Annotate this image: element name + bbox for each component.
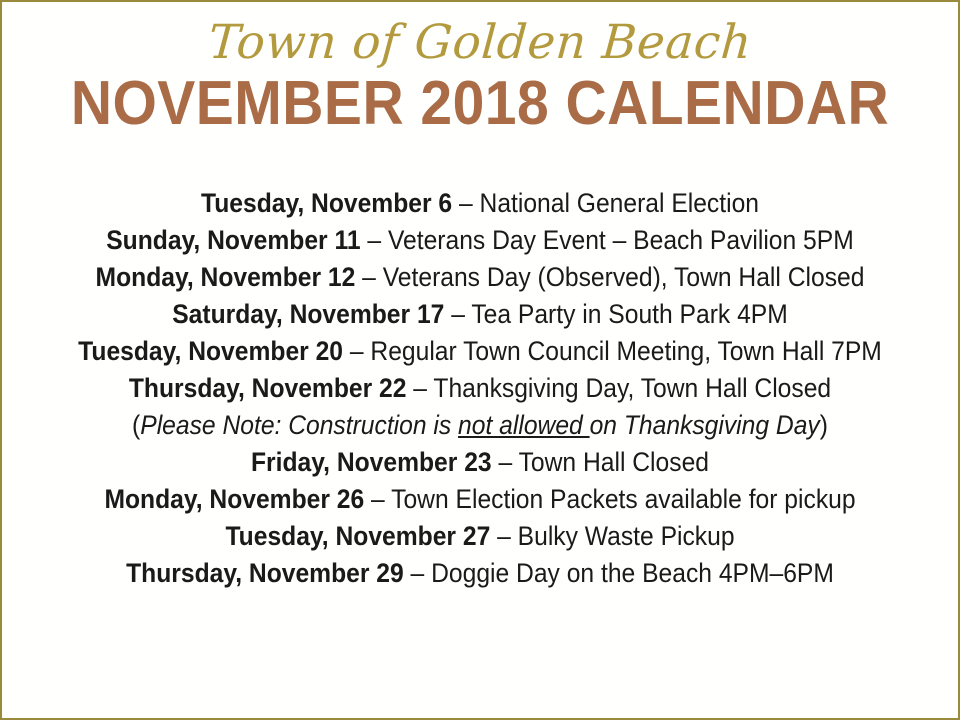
event-line: Saturday, November 17 – Tea Party in Sou…	[35, 296, 924, 333]
note-trail-text: on Thanksgiving Day	[590, 410, 820, 440]
event-separator: –	[490, 521, 517, 551]
event-date: Thursday, November 29	[126, 558, 404, 588]
event-date: Saturday, November 17	[172, 299, 444, 329]
event-date: Tuesday, November 20	[78, 336, 343, 366]
event-separator: –	[452, 188, 479, 218]
event-date: Monday, November 26	[104, 484, 364, 514]
event-line: Tuesday, November 6 – National General E…	[35, 185, 924, 222]
event-line: Sunday, November 11 – Veterans Day Event…	[35, 222, 924, 259]
event-date: Sunday, November 11	[106, 225, 360, 255]
event-description: Regular Town Council Meeting, Town Hall …	[370, 336, 881, 366]
event-description: Thanksgiving Day, Town Hall Closed	[433, 373, 831, 403]
event-description: Veterans Day (Observed), Town Hall Close…	[383, 262, 865, 292]
event-description: Town Hall Closed	[519, 447, 709, 477]
note-emphasis: not allowed	[458, 410, 590, 440]
note-open-paren: (	[132, 410, 140, 440]
event-description: Doggie Day on the Beach 4PM–6PM	[431, 558, 834, 588]
calendar-flyer: Town of Golden Beach NOVEMBER 2018 CALEN…	[0, 0, 960, 720]
event-line: Monday, November 12 – Veterans Day (Obse…	[35, 259, 924, 296]
event-description: Bulky Waste Pickup	[518, 521, 735, 551]
event-description: Town Election Packets available for pick…	[391, 484, 855, 514]
event-separator: –	[492, 447, 519, 477]
event-separator: –	[364, 484, 391, 514]
event-description: Tea Party in South Park 4PM	[471, 299, 787, 329]
event-separator: –	[361, 225, 388, 255]
construction-note: (Please Note: Construction is not allowe…	[35, 407, 924, 444]
event-line: Monday, November 26 – Town Election Pack…	[35, 481, 924, 518]
page-title: NOVEMBER 2018 CALENDAR	[40, 73, 920, 135]
event-date: Tuesday, November 6	[201, 188, 452, 218]
event-date: Thursday, November 22	[129, 373, 407, 403]
event-line: Thursday, November 22 – Thanksgiving Day…	[35, 370, 924, 407]
town-name-title: Town of Golden Beach	[0, 18, 960, 69]
event-separator: –	[343, 336, 370, 366]
event-description: Veterans Day Event – Beach Pavilion 5PM	[388, 225, 854, 255]
note-close-paren: )	[820, 410, 828, 440]
event-description: National General Election	[480, 188, 759, 218]
event-date: Monday, November 12	[96, 262, 356, 292]
event-list: Tuesday, November 6 – National General E…	[2, 185, 958, 592]
event-line: Tuesday, November 20 – Regular Town Coun…	[35, 333, 924, 370]
event-separator: –	[406, 373, 433, 403]
event-date: Tuesday, November 27	[225, 521, 490, 551]
event-date: Friday, November 23	[251, 447, 492, 477]
event-separator: –	[444, 299, 471, 329]
event-line: Tuesday, November 27 – Bulky Waste Picku…	[35, 518, 924, 555]
event-line: Friday, November 23 – Town Hall Closed	[35, 444, 924, 481]
event-separator: –	[355, 262, 382, 292]
note-lead-text: Please Note: Construction is	[140, 410, 458, 440]
flyer-header: Town of Golden Beach NOVEMBER 2018 CALEN…	[2, 2, 958, 135]
event-line: Thursday, November 29 – Doggie Day on th…	[35, 555, 924, 592]
event-separator: –	[404, 558, 431, 588]
